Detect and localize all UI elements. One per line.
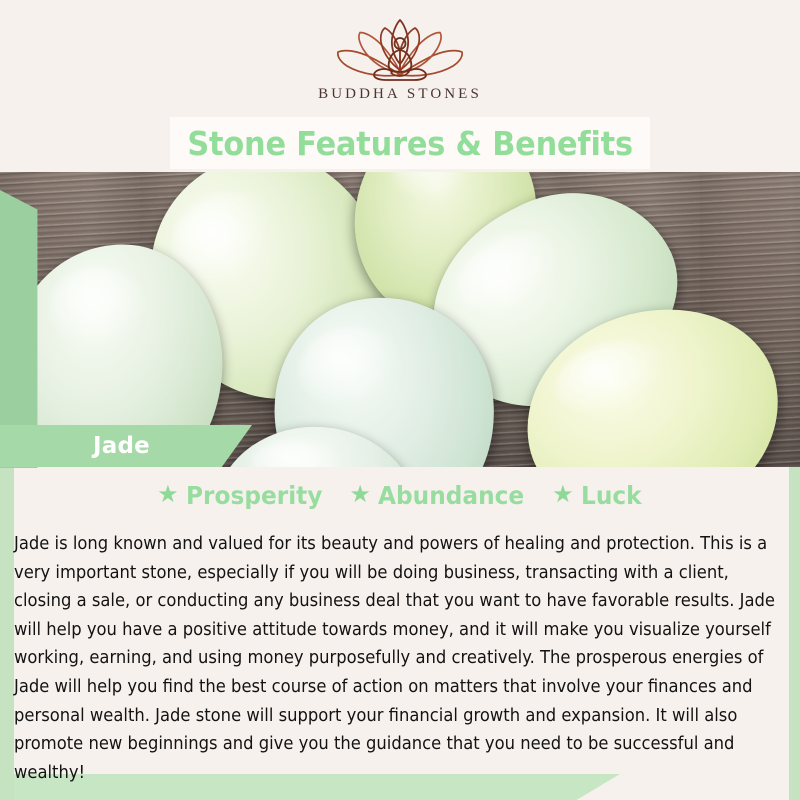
star-icon: ★	[157, 483, 179, 507]
description-text: Jade is long known and valued for its be…	[14, 530, 789, 787]
benefit-label: Abundance	[378, 483, 524, 508]
title-banner: Stone Features & Benefits	[170, 117, 650, 169]
stone-name-label: Jade	[93, 433, 150, 459]
star-icon: ★	[552, 483, 574, 507]
benefit-item: ★ Prosperity	[157, 483, 332, 508]
benefit-item: ★ Abundance	[349, 483, 535, 508]
poster-root: BUDDHA STONES Stone Features & Benefits …	[0, 0, 800, 800]
brand-logo: BUDDHA STONES	[285, 16, 515, 103]
star-icon: ★	[349, 483, 371, 507]
brand-name: BUDDHA STONES	[285, 86, 515, 103]
frame-left-strip	[0, 466, 14, 800]
page-title: Stone Features & Benefits	[187, 127, 633, 160]
stone-photo	[0, 172, 800, 467]
benefits-row: ★ Prosperity ★ Abundance ★ Luck	[14, 478, 789, 512]
stone-name-ribbon: Jade	[0, 425, 252, 467]
benefit-label: Prosperity	[186, 483, 322, 508]
lotus-meditation-icon	[325, 16, 475, 82]
footer-left-pad	[0, 774, 14, 800]
benefit-label: Luck	[581, 483, 642, 508]
benefit-item: ★ Luck	[552, 483, 646, 508]
